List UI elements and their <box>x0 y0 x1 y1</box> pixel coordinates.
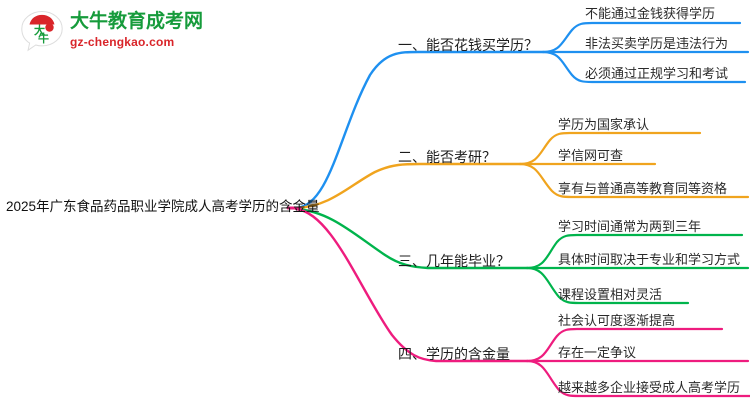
leaf-label-1-2[interactable]: 非法买卖学历是违法行为 <box>585 37 728 50</box>
branch-2-connectors <box>296 133 748 208</box>
branch-label-2[interactable]: 二、能否考研？ <box>398 150 496 164</box>
leaf-label-4-2[interactable]: 存在一定争议 <box>558 346 636 359</box>
leaf-label-2-2[interactable]: 学信网可查 <box>558 149 623 162</box>
root-node-label[interactable]: 2025年广东食品药品职业学院成人高考学历的含金量 <box>6 200 320 214</box>
branch-label-4[interactable]: 四、学历的含金量 <box>398 347 510 361</box>
leaf-label-4-3[interactable]: 越来越多企业接受成人高考学历 <box>558 381 740 394</box>
branch-label-3[interactable]: 三、几年能毕业？ <box>398 254 510 268</box>
leaf-label-2-3[interactable]: 享有与普通高等教育同等资格 <box>558 182 727 195</box>
leaf-label-1-3[interactable]: 必须通过正规学习和考试 <box>585 67 728 80</box>
mindmap-page: 大 牛 大牛教育成考网 gz-chengkao.com <box>0 0 750 410</box>
leaf-label-1-1[interactable]: 不能通过金钱获得学历 <box>585 7 715 20</box>
leaf-label-4-1[interactable]: 社会认可度逐渐提高 <box>558 314 675 327</box>
leaf-label-3-1[interactable]: 学习时间通常为两到三年 <box>558 220 701 233</box>
leaf-label-3-3[interactable]: 课程设置相对灵活 <box>558 288 662 301</box>
leaf-label-2-1[interactable]: 学历为国家承认 <box>558 118 649 131</box>
leaf-label-3-2[interactable]: 具体时间取决于专业和学习方式 <box>558 253 740 266</box>
branch-label-1[interactable]: 一、能否花钱买学历？ <box>398 38 538 52</box>
